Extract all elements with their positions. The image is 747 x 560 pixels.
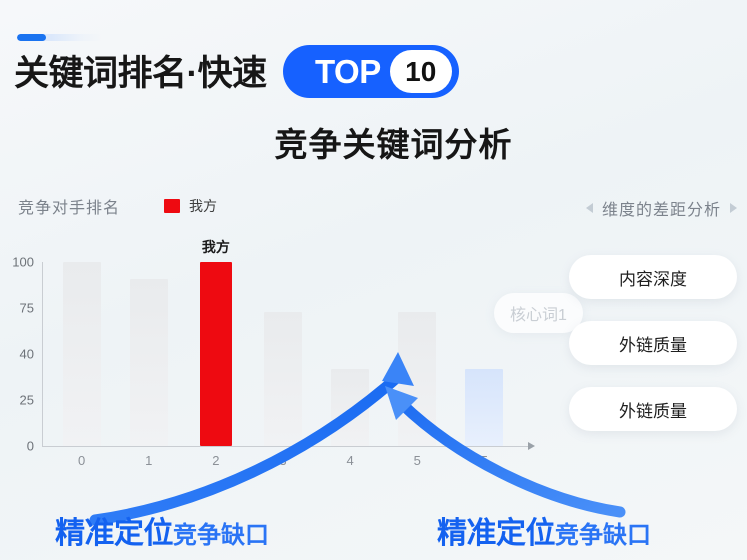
dimension-gap-title: 维度的差距分析 (602, 196, 721, 220)
dimension-card[interactable]: 外链质量 (569, 321, 737, 365)
triangle-left-icon (586, 203, 593, 213)
caption-right: 精准定位 竞争缺口 (437, 508, 651, 552)
bar[interactable] (130, 279, 168, 446)
x-axis-tick: 3 (249, 453, 316, 468)
header-title: 关键词排名·快速 (14, 56, 267, 91)
caption-right-weak: 竞争缺口 (555, 515, 651, 550)
y-axis-tick: 100 (0, 255, 42, 270)
slide-canvas: 关键词排名·快速 TOP 10 竞争关键词分析 竞争对手排名 我方 维度的差距分… (0, 0, 747, 560)
caption-left-weak: 竞争缺口 (173, 515, 269, 550)
x-axis-tick: 2 (182, 453, 249, 468)
bar-slot (115, 262, 182, 446)
x-axis-arrow-icon (528, 442, 535, 450)
header: 关键词排名·快速 (14, 44, 267, 102)
bar-chart: 1007540250 我方 0123455 (0, 248, 560, 483)
bar-slot (249, 262, 316, 446)
chart-section-title: 竞争对手排名 (18, 194, 120, 218)
progress-decoration (17, 34, 103, 41)
dimension-gap-header: 维度的差距分析 (586, 196, 737, 220)
x-axis-tick: 0 (48, 453, 115, 468)
x-axis-labels: 0123455 (48, 453, 518, 468)
progress-decoration-fill (17, 34, 46, 41)
x-axis-line (42, 446, 529, 447)
dimension-card[interactable]: 外链质量 (569, 387, 737, 431)
x-axis-tick: 1 (115, 453, 182, 468)
bar[interactable] (398, 312, 436, 446)
x-axis-tick: 5 (384, 453, 451, 468)
triangle-right-icon (730, 203, 737, 213)
legend-swatch-icon (164, 199, 180, 213)
bar[interactable] (465, 369, 503, 446)
legend-entry-label: 我方 (189, 196, 217, 216)
bar-group: 我方 (48, 262, 518, 446)
bar-slot (317, 262, 384, 446)
x-axis-tick: 4 (317, 453, 384, 468)
bar-slot (384, 262, 451, 446)
y-axis-tick: 25 (0, 393, 42, 408)
page-title: 竞争关键词分析 (0, 118, 747, 166)
y-axis-tick: 75 (0, 301, 42, 316)
top-badge-number: 10 (390, 50, 452, 93)
y-axis-tick: 0 (0, 439, 42, 454)
caption-left-strong: 精准定位 (55, 508, 173, 552)
dimension-card-list: 内容深度外链质量外链质量 (569, 255, 737, 431)
dimension-card[interactable]: 内容深度 (569, 255, 737, 299)
top-badge: TOP 10 (283, 45, 459, 98)
bar-highlight-label: 我方 (202, 237, 230, 257)
bar[interactable] (331, 369, 369, 446)
top-badge-word: TOP (311, 55, 381, 88)
caption-left: 精准定位 竞争缺口 (55, 508, 269, 552)
caption-right-strong: 精准定位 (437, 508, 555, 552)
bar[interactable] (264, 312, 302, 446)
legend-entry-ours: 我方 (164, 196, 217, 216)
bar-slot: 我方 (182, 262, 249, 446)
bar-slot (451, 262, 518, 446)
bar-highlight[interactable] (200, 262, 232, 446)
x-axis-tick: 5 (451, 453, 518, 468)
chart-legend-row: 竞争对手排名 我方 (18, 194, 217, 218)
y-axis-line (42, 262, 43, 446)
y-axis-tick: 40 (0, 347, 42, 362)
bar[interactable] (63, 262, 101, 446)
bar-slot (48, 262, 115, 446)
